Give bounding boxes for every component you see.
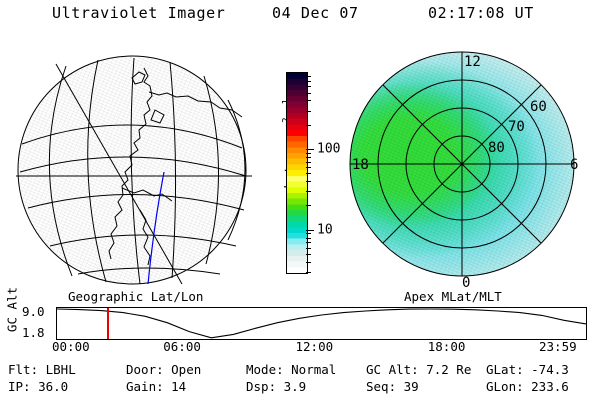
colorbar-tick-label: 100 <box>317 143 340 156</box>
colorbar-tick-label: 10 <box>317 223 333 236</box>
colorbar-minor-tick <box>306 181 311 182</box>
orbit-y-axis-label: GC Alt <box>5 282 20 338</box>
orbit-ytick-low: 1.8 <box>22 327 45 340</box>
status-field-mode: Mode: Normal <box>246 362 336 377</box>
colorbar-minor-tick <box>306 191 311 192</box>
polar-mlt-label-12: 12 <box>464 54 481 70</box>
orbit-xtick-0: 00:00 <box>52 339 90 354</box>
colorbar-minor-tick <box>306 81 311 82</box>
colorbar-minor-tick <box>306 248 311 249</box>
status-field-glat: GLat: -74.3 <box>486 362 569 377</box>
orbit-altitude-plot[interactable]: Geographic Lat/Lon Apex MLat/MLT GC Alt … <box>0 290 600 354</box>
status-field-dsp: Dsp: 3.9 <box>246 379 306 394</box>
polar-disc: 12 6 0 18 80 70 60 <box>342 44 594 292</box>
colorbar-minor-tick <box>306 76 311 77</box>
colorbar-minor-tick <box>306 86 311 87</box>
colorbar-minor-tick <box>306 254 311 255</box>
orbit-ytick-high: 9.0 <box>22 306 45 319</box>
colorbar-major-tick <box>306 149 314 150</box>
status-block: Flt: LBHL Door: Open Mode: Normal GC Alt… <box>0 362 600 400</box>
instrument-title: Ultraviolet Imager <box>52 4 225 22</box>
polar-mlt-label-6: 6 <box>570 157 578 173</box>
colorbar-minor-tick <box>306 262 311 263</box>
colorbar-minor-tick <box>306 125 311 126</box>
header-bar: Ultraviolet Imager 04 Dec 07 02:17:08 UT <box>0 4 600 30</box>
orbit-track-line <box>57 308 586 339</box>
polar-mlat-label-70: 70 <box>508 119 525 135</box>
status-field-filter: Flt: LBHL <box>8 362 76 377</box>
status-row-2: IP: 36.0 Gain: 14 Dsp: 3.9 Seq: 39 GLon:… <box>0 379 600 397</box>
polar-panel-title: Apex MLat/MLT <box>404 289 502 304</box>
geographic-disc <box>14 48 264 288</box>
colorbar-minor-tick <box>306 242 311 243</box>
colorbar-minor-tick <box>306 205 311 206</box>
geo-panel-title: Geographic Lat/Lon <box>68 289 203 304</box>
orbit-xtick-1: 06:00 <box>163 339 201 354</box>
colorbar-minor-tick <box>306 233 311 234</box>
colorbar-minor-tick <box>306 153 311 154</box>
polar-image-panel[interactable]: 12 6 0 18 80 70 60 <box>342 44 594 292</box>
status-field-ip: IP: 36.0 <box>8 379 68 394</box>
status-field-gcalt: GC Alt: 7.2 Re <box>366 362 471 377</box>
polar-mlt-label-18: 18 <box>352 157 369 173</box>
colorbar-minor-tick <box>306 173 311 174</box>
colorbar-group: photon cm-2s-1 10010 <box>266 62 344 290</box>
colorbar-gradient[interactable] <box>286 72 308 274</box>
observation-date: 04 Dec 07 <box>272 4 359 22</box>
orbit-xtick-3: 18:00 <box>428 339 466 354</box>
polar-mlat-label-60: 60 <box>530 99 547 115</box>
colorbar-minor-tick <box>306 157 311 158</box>
status-field-glon: GLon: 233.6 <box>486 379 569 394</box>
colorbar-minor-tick <box>306 167 311 168</box>
status-field-door: Door: Open <box>126 362 201 377</box>
orbit-xtick-4: 23:59 <box>539 339 577 354</box>
polar-mlat-label-80: 80 <box>488 140 505 156</box>
colorbar-major-tick <box>306 230 314 231</box>
orbit-plot-frame[interactable] <box>56 307 587 340</box>
colorbar-minor-tick <box>306 93 311 94</box>
geographic-grid-overlay <box>14 48 264 288</box>
colorbar-tick-axis: 10010 <box>306 72 342 272</box>
colorbar-minor-tick <box>306 238 311 239</box>
colorbar-minor-tick <box>306 162 311 163</box>
orbit-xtick-2: 12:00 <box>296 339 334 354</box>
time-cursor[interactable] <box>107 308 109 339</box>
geographic-image-panel[interactable] <box>14 48 264 288</box>
status-row-1: Flt: LBHL Door: Open Mode: Normal GC Alt… <box>0 362 600 380</box>
status-field-gain: Gain: 14 <box>126 379 186 394</box>
colorbar-minor-tick <box>306 100 311 101</box>
colorbar-minor-tick <box>306 111 311 112</box>
colorbar-minor-tick <box>306 272 311 273</box>
status-field-seq: Seq: 39 <box>366 379 419 394</box>
observation-time: 02:17:08 UT <box>428 4 534 22</box>
polar-grid-overlay: 12 6 0 18 80 70 60 <box>342 44 594 292</box>
